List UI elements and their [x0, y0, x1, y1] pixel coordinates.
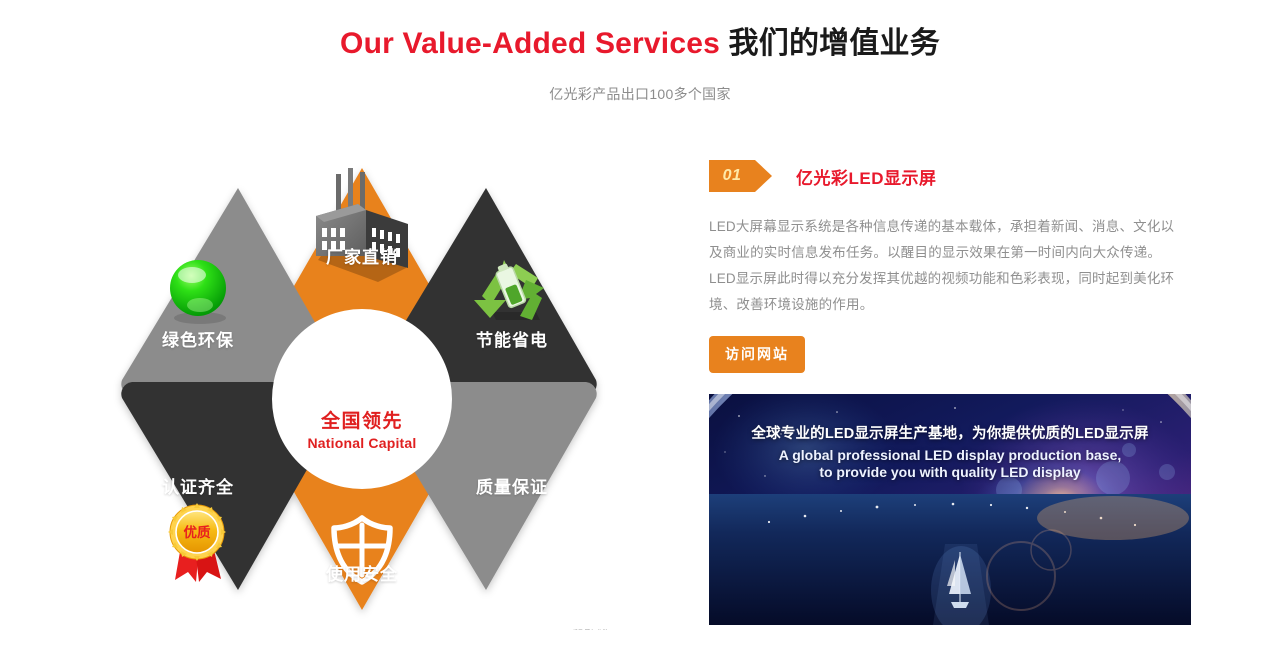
banner-caption: 全球专业的LED显示屏生产基地，为你提供优质的LED显示屏 A global p…	[709, 422, 1191, 480]
panel-number-badge: 01	[709, 160, 755, 192]
svg-text:AAA: AAA	[570, 603, 611, 625]
banner-line-english-1: A global professional LED display produc…	[709, 447, 1191, 463]
banner-line-english-2: to provide you with quality LED display	[709, 464, 1191, 480]
page-title-chinese: 我们的增值业务	[729, 27, 940, 60]
page-root: Our Value-Added Services 我们的增值业务 亿光彩产品出口…	[0, 0, 1280, 645]
award-rosette-icon: 优质	[168, 503, 226, 582]
banner-line-chinese: 全球专业的LED显示屏生产基地，为你提供优质的LED显示屏	[709, 422, 1191, 443]
promo-banner[interactable]: 全球专业的LED显示屏生产基地，为你提供优质的LED显示屏 A global p…	[709, 394, 1191, 625]
diagram-center: 全国领先 National Capital	[279, 316, 445, 482]
segment-label-eco-friendly[interactable]: 绿色环保	[138, 326, 258, 351]
page-subtitle: 亿光彩产品出口100多个国家	[0, 84, 1280, 104]
panel-heading-row: 01 亿光彩LED显示屏	[709, 160, 1191, 192]
center-label-chinese: 全国领先	[321, 406, 403, 433]
aaa-badge-icon: AAA 质量 服务 信誉	[556, 586, 624, 630]
page-title-english: Our Value-Added Services	[340, 27, 720, 60]
segment-label-energy-saving[interactable]: 节能省电	[452, 326, 572, 351]
panel-heading: 亿光彩LED显示屏	[796, 164, 937, 189]
svg-text:优质: 优质	[184, 524, 211, 540]
segment-label-full-certified[interactable]: 认证齐全	[138, 473, 258, 498]
value-hexagon-diagram: AAA 质量 服务 信誉	[78, 148, 646, 630]
service-detail-panel: 01 亿光彩LED显示屏 LED大屏幕显示系统是各种信息传递的基本载体，承担着新…	[709, 160, 1191, 373]
segment-label-factory-direct[interactable]: 厂家直销	[302, 243, 422, 268]
segment-label-quality-assured[interactable]: 质量保证	[452, 473, 572, 498]
segment-label-safe-to-use[interactable]: 使用安全	[302, 560, 422, 585]
page-title: Our Value-Added Services 我们的增值业务	[0, 26, 1280, 62]
visit-website-button[interactable]: 访问网站	[709, 336, 805, 373]
panel-body-text: LED大屏幕显示系统是各种信息传递的基本载体，承担着新闻、消息、文化以及商业的实…	[709, 214, 1187, 318]
section-header: Our Value-Added Services 我们的增值业务 亿光彩产品出口…	[0, 0, 1280, 104]
center-label-english: National Capital	[308, 435, 417, 451]
